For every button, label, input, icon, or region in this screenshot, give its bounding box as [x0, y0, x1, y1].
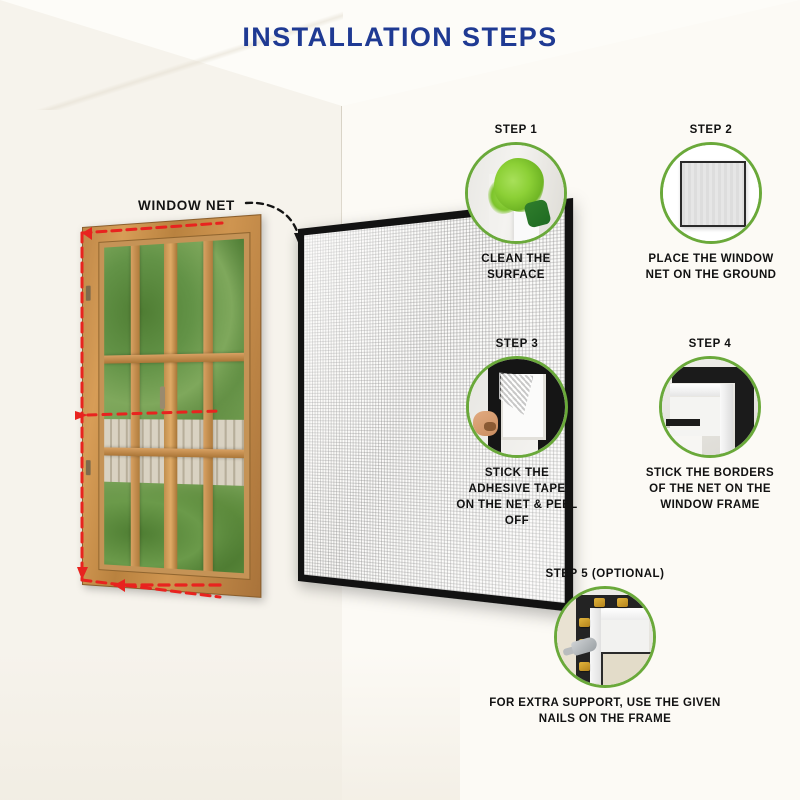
floor-shadow: [0, 650, 460, 800]
step-card-3: STEP 3 STICK THE ADHESIVE TAPE ON THE NE…: [450, 338, 584, 529]
nail-icon: [594, 598, 605, 607]
step-2-caption-line-2: NET ON THE GROUND: [645, 268, 777, 284]
step-5-caption: FOR EXTRA SUPPORT, USE THE GIVEN NAILS O…: [460, 696, 750, 728]
net-border-step-edge: [666, 419, 701, 427]
step-5-caption-line-2: NAILS ON THE FRAME: [460, 712, 750, 728]
step-1-image: [465, 142, 567, 244]
step-5-caption-line-1: FOR EXTRA SUPPORT, USE THE GIVEN: [460, 696, 750, 712]
nail-icon: [579, 618, 590, 627]
lower-frame-panel: [601, 652, 651, 687]
tape-arrow-head-bottom: [114, 579, 125, 592]
fingers: [484, 422, 496, 431]
step-card-4: STEP 4 STICK THE BORDERS OF THE NET ON T…: [640, 338, 780, 514]
step-2-image: [660, 142, 762, 244]
step-1-title: STEP 1: [462, 124, 570, 136]
step-5-title: STEP 5 (OPTIONAL): [460, 568, 750, 580]
step-2-title: STEP 2: [645, 124, 777, 136]
window-net-callout-label: WINDOW NET: [138, 198, 235, 213]
step-3-caption-line-3: ON THE NET & PEEL OFF: [450, 498, 584, 530]
step-4-image: [659, 356, 761, 458]
step-3-caption: STICK THE ADHESIVE TAPE ON THE NET & PEE…: [450, 466, 584, 529]
step-1-caption-line-1: CLEAN THE: [462, 252, 570, 268]
step-3-title: STEP 3: [450, 338, 584, 350]
step-2-caption: PLACE THE WINDOW NET ON THE GROUND: [645, 252, 777, 284]
step-3-caption-line-2: ADHESIVE TAPE: [450, 482, 584, 498]
tape-arrow-head-left: [77, 567, 88, 580]
adhesive-tape-path: [70, 215, 300, 615]
window-net-installation-illustration: [70, 215, 415, 615]
step-4-caption-line-3: WINDOW FRAME: [640, 498, 780, 514]
ceiling-seam-line: [0, 0, 343, 110]
white-frame-right: [720, 384, 733, 453]
step-4-title: STEP 4: [640, 338, 780, 350]
folded-net-square: [680, 161, 745, 226]
step-2-caption-line-1: PLACE THE WINDOW: [645, 252, 777, 268]
step-1-caption: CLEAN THE SURFACE: [462, 252, 570, 284]
nail-icon: [617, 598, 628, 607]
step-card-1: STEP 1 CLEAN THE SURFACE: [462, 124, 570, 284]
step-5-image: [554, 586, 656, 688]
step-card-5: STEP 5 (OPTIONAL) FOR EXTRA SUPPORT, USE…: [460, 568, 750, 728]
step-1-caption-line-2: SURFACE: [462, 268, 570, 284]
step-4-caption-line-2: OF THE NET ON THE: [640, 482, 780, 498]
window-inner-surface: [670, 397, 720, 435]
step-4-caption: STICK THE BORDERS OF THE NET ON THE WIND…: [640, 466, 780, 514]
net-border-right: [735, 367, 754, 451]
step-4-caption-line-1: STICK THE BORDERS: [640, 466, 780, 482]
step-3-image: [466, 356, 568, 458]
step-3-caption-line-1: STICK THE: [450, 466, 584, 482]
step-card-2: STEP 2 PLACE THE WINDOW NET ON THE GROUN…: [645, 124, 777, 284]
nail-icon: [579, 662, 590, 671]
page-title: INSTALLATION STEPS: [0, 22, 800, 53]
